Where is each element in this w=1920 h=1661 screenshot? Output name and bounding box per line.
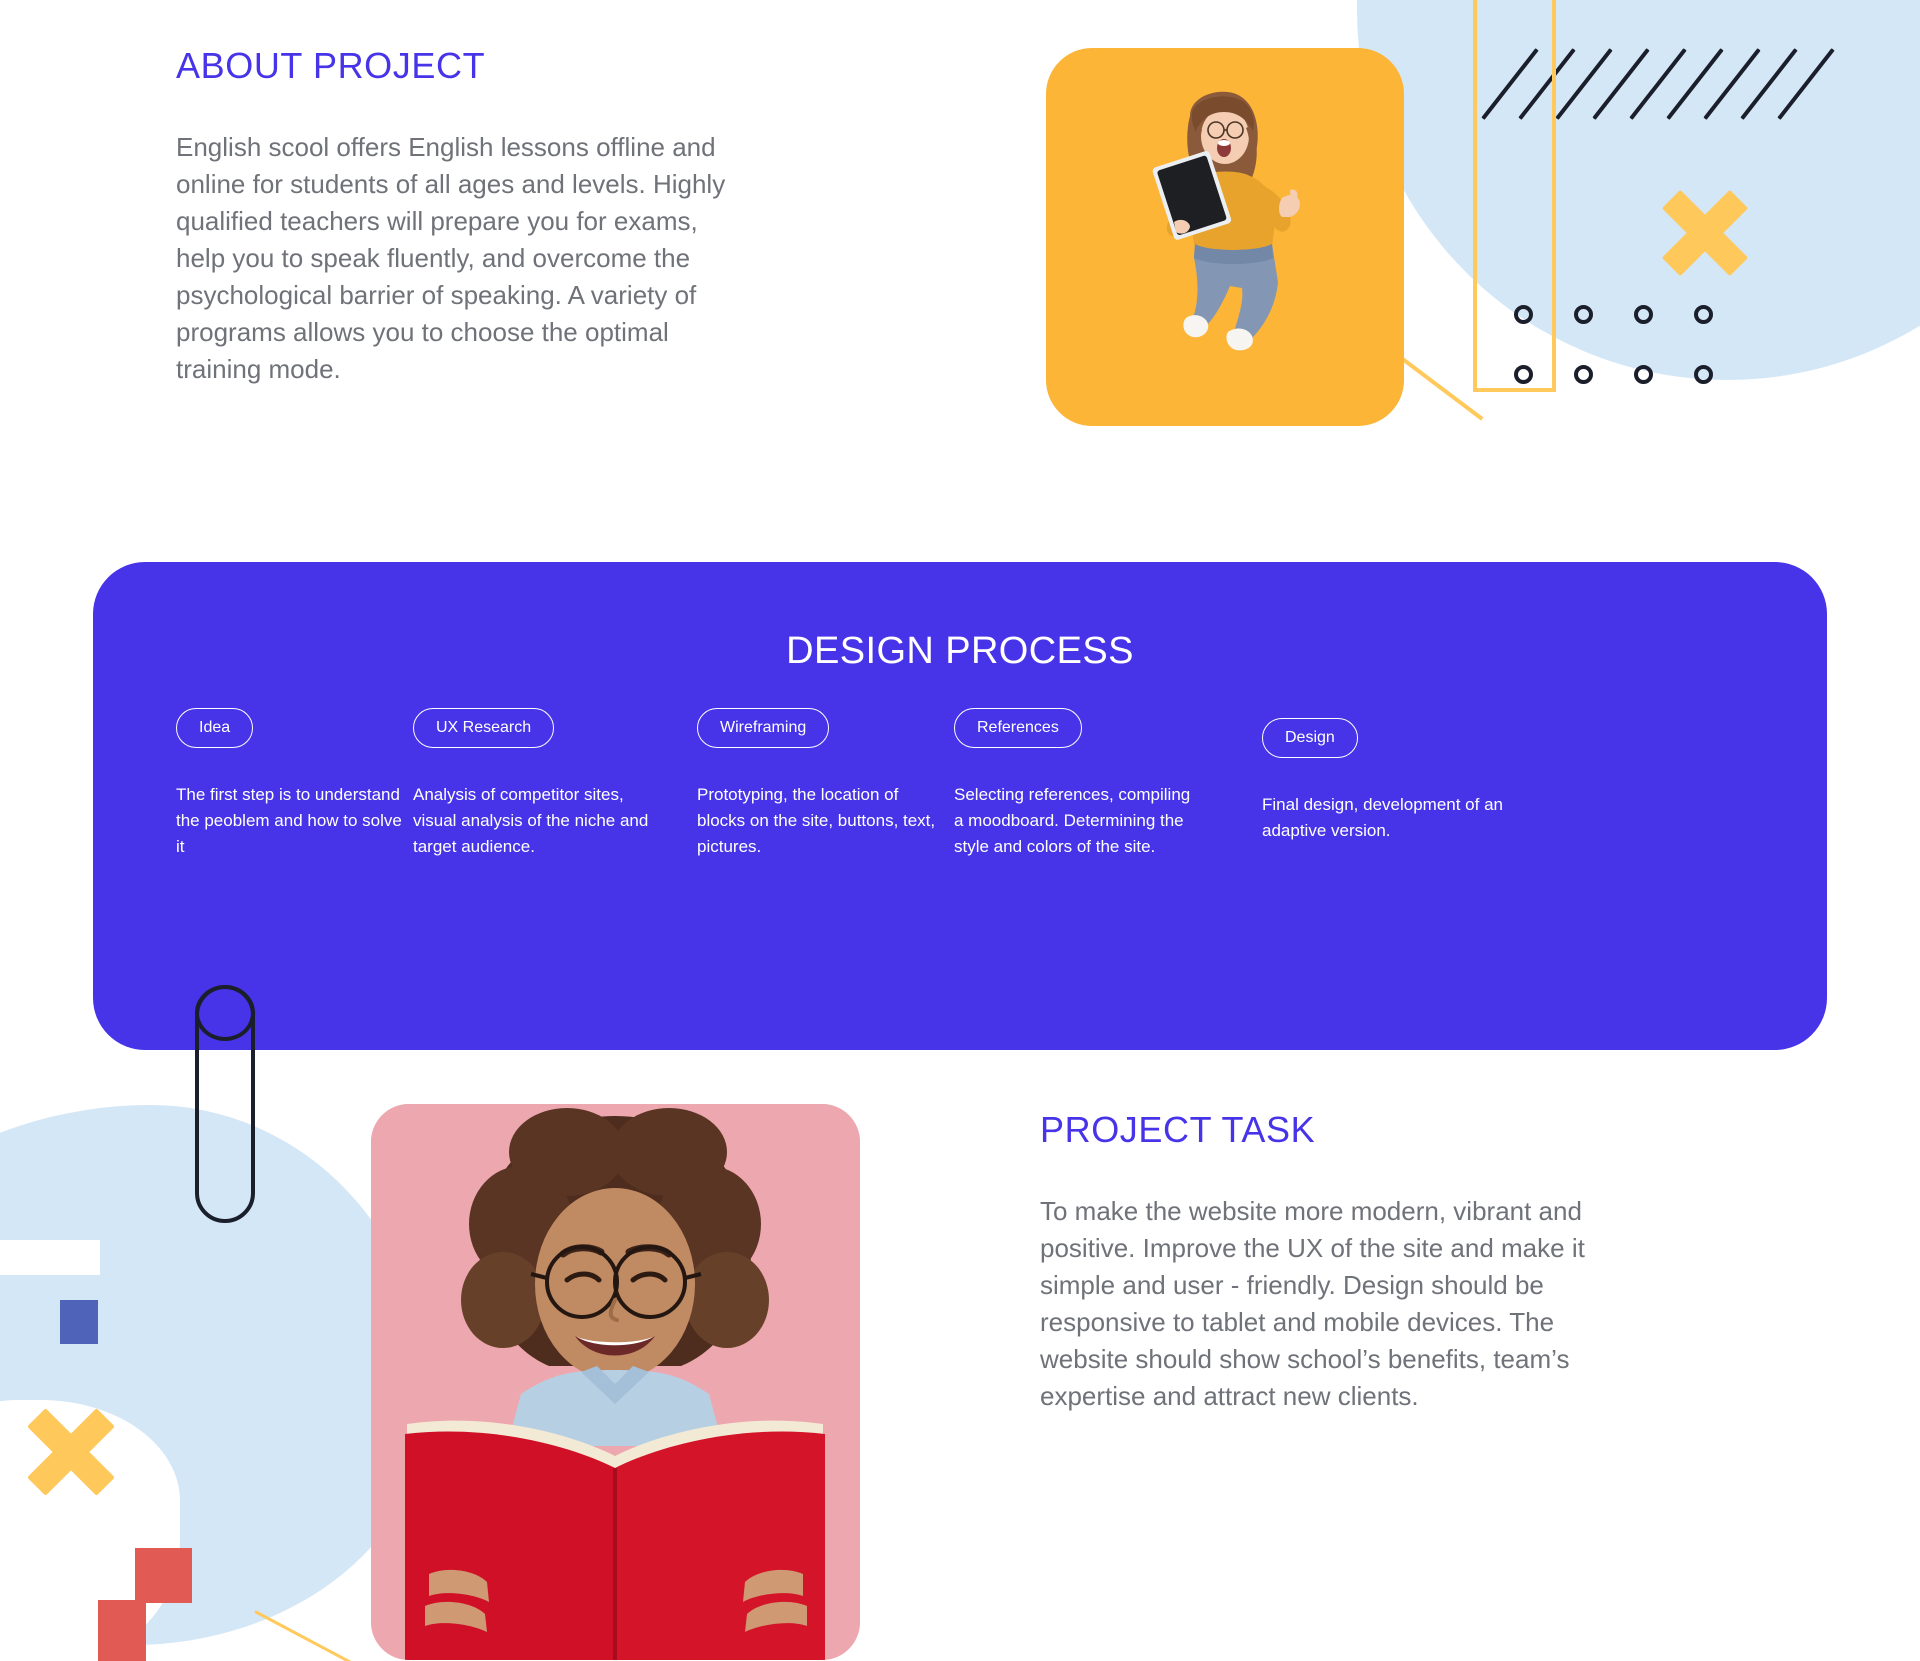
yellow-outline-rectangle-decoration bbox=[1473, 0, 1556, 392]
process-step-description-design: Final design, development of an adaptive… bbox=[1262, 792, 1512, 844]
process-step-references: References Selecting references, compili… bbox=[954, 708, 1204, 859]
blue-square-decoration bbox=[60, 1300, 98, 1344]
diagonal-hatch-lines-decoration bbox=[1508, 40, 1838, 130]
process-step-idea: Idea The first step is to understand the… bbox=[176, 708, 406, 859]
dot-grid-decoration bbox=[1514, 305, 1754, 395]
process-step-description-idea: The first step is to understand the peob… bbox=[176, 782, 406, 859]
about-project-paragraph: English scool offers English lessons off… bbox=[176, 129, 736, 387]
yellow-cross-icon bbox=[1657, 185, 1753, 281]
woman-reading-book-illustration bbox=[371, 1104, 860, 1660]
process-step-pill-wireframing[interactable]: Wireframing bbox=[697, 708, 829, 748]
project-task-section: PROJECT TASK To make the website more mo… bbox=[1040, 1108, 1600, 1415]
project-task-paragraph: To make the website more modern, vibrant… bbox=[1040, 1193, 1600, 1414]
process-step-pill-idea[interactable]: Idea bbox=[176, 708, 253, 748]
red-square-decoration-lower bbox=[98, 1600, 146, 1661]
about-project-section: ABOUT PROJECT English scool offers Engli… bbox=[176, 44, 736, 388]
reader-image-card-pink bbox=[371, 1104, 860, 1660]
process-step-pill-ux-research[interactable]: UX Research bbox=[413, 708, 554, 748]
about-project-title: ABOUT PROJECT bbox=[176, 44, 736, 87]
white-blob-decoration-bottom-left bbox=[0, 1400, 180, 1660]
page-root: ABOUT PROJECT English scool offers Engli… bbox=[0, 0, 1920, 1661]
process-step-wireframing: Wireframing Prototyping, the location of… bbox=[697, 708, 937, 859]
process-step-description-wireframing: Prototyping, the location of blocks on t… bbox=[697, 782, 937, 859]
jumping-student-illustration bbox=[1132, 86, 1322, 396]
blue-blob-decoration-bottom-left bbox=[0, 1105, 430, 1645]
white-bar-decoration bbox=[0, 1240, 100, 1275]
yellow-cross-icon-bottom-left bbox=[22, 1403, 120, 1501]
design-process-card: DESIGN PROCESS Idea The first step is to… bbox=[93, 562, 1827, 1050]
process-step-ux-research: UX Research Analysis of competitor sites… bbox=[413, 708, 653, 859]
blue-blob-decoration-top-right bbox=[1357, 0, 1920, 380]
yellow-thin-line-decoration bbox=[254, 1610, 361, 1661]
hero-image-card-yellow bbox=[1046, 48, 1404, 426]
process-step-description-references: Selecting references, compiling a moodbo… bbox=[954, 782, 1204, 859]
process-step-pill-references[interactable]: References bbox=[954, 708, 1082, 748]
project-task-title: PROJECT TASK bbox=[1040, 1108, 1600, 1151]
design-process-steps: Idea The first step is to understand the… bbox=[93, 562, 1827, 1050]
red-square-decoration-upper bbox=[135, 1548, 192, 1603]
process-step-pill-design[interactable]: Design bbox=[1262, 718, 1358, 758]
process-step-design: Design Final design, development of an a… bbox=[1262, 718, 1512, 844]
process-step-description-ux-research: Analysis of competitor sites, visual ana… bbox=[413, 782, 653, 859]
